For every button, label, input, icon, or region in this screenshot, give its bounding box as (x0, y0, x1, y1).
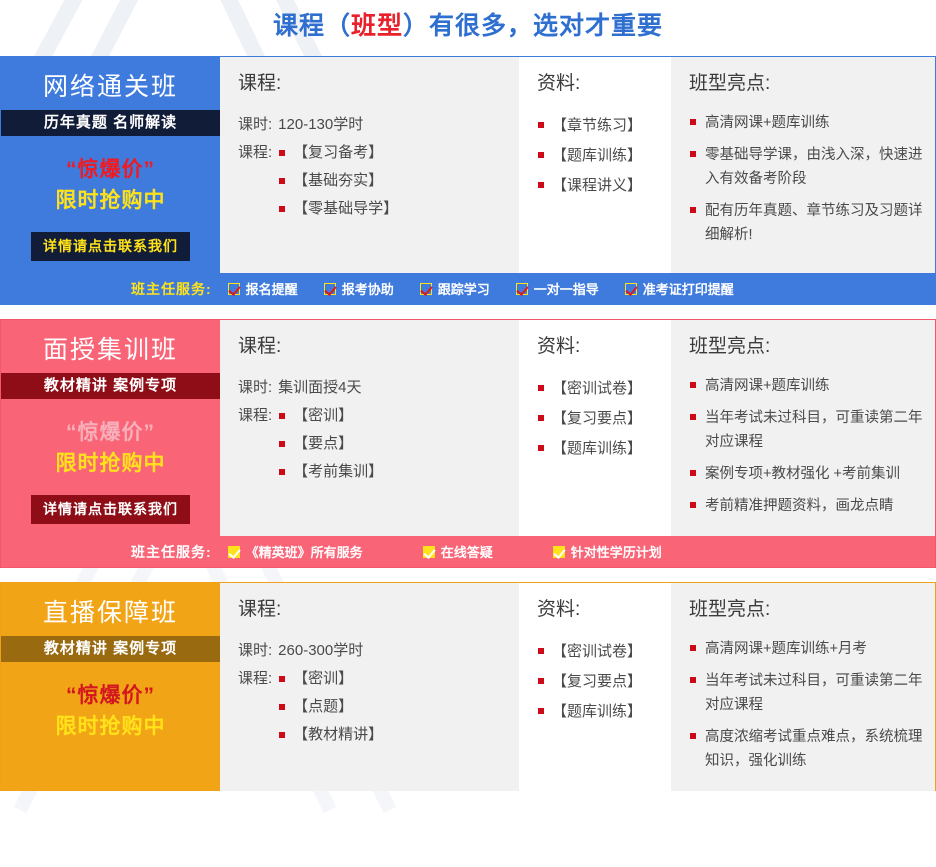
page-title-accent: 班型 (351, 12, 403, 40)
list-item: 配有历年真题、章节练习及习题详细解析! (689, 199, 935, 247)
service-bar: 班主任服务: 报名提醒 报考协助 跟踪学习 一对一指导 准考证打印提醒 (1, 273, 935, 304)
course-list-key: 课程: (238, 402, 272, 486)
service-bar-label: 班主任服务: (131, 542, 212, 562)
course-list-row: 课程: 【复习备考】 【基础夯实】 【零基础导学】 (238, 139, 519, 223)
promo-price-label: “惊爆价” (1, 417, 220, 449)
checkbox-checked-icon (228, 283, 240, 295)
course-list-key: 课程: (238, 139, 272, 223)
card-body: 面授集训班 教材精讲 案例专项 “惊爆价” 限时抢购中 详情请点击联系我们 课程… (1, 320, 935, 536)
promo-title: 网络通关班 (1, 67, 220, 110)
list-item: 案例专项+教材强化 +考前集训 (689, 462, 935, 486)
list-item: 【要点】 (278, 430, 519, 458)
list-item: 【题库训练】 (537, 434, 671, 464)
promo-panel[interactable]: 直播保障班 教材精讲 案例专项 “惊爆价” 限时抢购中 (1, 583, 220, 791)
list-item: 【复习要点】 (537, 404, 671, 434)
service-item-label: 报考协助 (342, 279, 394, 298)
list-item: 【考前集训】 (278, 458, 519, 486)
courses-heading: 课程: (238, 71, 519, 97)
service-item[interactable]: 报名提醒 (228, 279, 298, 298)
list-item: 【零基础导学】 (278, 195, 519, 223)
list-item: 【密训】 (278, 665, 519, 693)
course-hours-value: 集训面授4天 (278, 374, 519, 402)
list-item: 【基础夯实】 (278, 167, 519, 195)
highlights-column: 班型亮点: 高清网课+题库训练 零基础导学课，由浅入深，快速进入有效备考阶段 配… (671, 57, 935, 273)
highlights-column: 班型亮点: 高清网课+题库训练+月考 当年考试未过科目，可重读第二年对应课程 高… (671, 583, 935, 791)
courses-column: 课程: 课时: 260-300学时 课程: 【密训】 【点题】 【教材精讲】 (220, 583, 519, 791)
promo-price-label: “惊爆价” (1, 154, 220, 186)
materials-list: 【章节练习】 【题库训练】 【课程讲义】 (537, 111, 671, 201)
card-body: 网络通关班 历年真题 名师解读 “惊爆价” 限时抢购中 详情请点击联系我们 课程… (1, 57, 935, 273)
promo-panel[interactable]: 网络通关班 历年真题 名师解读 “惊爆价” 限时抢购中 详情请点击联系我们 (1, 57, 220, 273)
page-title: 课程（班型）有很多，选对才重要 (0, 0, 936, 56)
list-item: 【密训试卷】 (537, 637, 671, 667)
highlights-list: 高清网课+题库训练+月考 当年考试未过科目，可重读第二年对应课程 高度浓缩考试重… (689, 637, 935, 773)
course-list-row: 课程: 【密训】 【点题】 【教材精讲】 (238, 665, 519, 749)
course-hours-key: 课时: (238, 374, 272, 402)
promo-price-label: “惊爆价” (1, 680, 220, 712)
courses-heading: 课程: (238, 334, 519, 360)
checkbox-checked-icon (423, 546, 435, 558)
service-bar-label: 班主任服务: (131, 279, 212, 299)
course-hours-key: 课时: (238, 111, 272, 139)
promo-subtitle: 教材精讲 案例专项 (1, 373, 220, 399)
promo-subtitle: 教材精讲 案例专项 (1, 636, 220, 662)
materials-column: 资料: 【密训试卷】 【复习要点】 【题库训练】 (519, 583, 671, 791)
highlights-list: 高清网课+题库训练 零基础导学课，由浅入深，快速进入有效备考阶段 配有历年真题、… (689, 111, 935, 247)
card-body: 直播保障班 教材精讲 案例专项 “惊爆价” 限时抢购中 课程: 课时: 260-… (1, 583, 935, 791)
course-list: 【复习备考】 【基础夯实】 【零基础导学】 (278, 139, 519, 223)
promo-title: 直播保障班 (1, 593, 220, 636)
materials-list: 【密训试卷】 【复习要点】 【题库训练】 (537, 637, 671, 727)
service-item-label: 一对一指导 (534, 279, 599, 298)
page-title-part1: 课程（ (273, 12, 351, 40)
checkbox-checked-icon (516, 283, 528, 295)
list-item: 【复习要点】 (537, 667, 671, 697)
checkbox-checked-icon (625, 283, 637, 295)
page-root: 课程（班型）有很多，选对才重要 网络通关班 历年真题 名师解读 “惊爆价” 限时… (0, 0, 936, 867)
promo-rush-label: 限时抢购中 (1, 186, 220, 216)
course-hours-row: 课时: 120-130学时 (238, 111, 519, 139)
highlights-heading: 班型亮点: (689, 597, 935, 623)
checkbox-checked-icon (420, 283, 432, 295)
course-list: 【密训】 【点题】 【教材精讲】 (278, 665, 519, 749)
courses-heading: 课程: (238, 597, 519, 623)
materials-column: 资料: 【章节练习】 【题库训练】 【课程讲义】 (519, 57, 671, 273)
service-item[interactable]: 针对性学历计划 (553, 542, 662, 561)
service-item[interactable]: 《精英班》所有服务 (228, 542, 363, 561)
courses-column: 课程: 课时: 120-130学时 课程: 【复习备考】 【基础夯实】 【零基础… (220, 57, 519, 273)
materials-heading: 资料: (537, 597, 671, 623)
service-item[interactable]: 一对一指导 (516, 279, 599, 298)
course-list-key: 课程: (238, 665, 272, 749)
service-item-label: 针对性学历计划 (571, 542, 662, 561)
list-item: 【章节练习】 (537, 111, 671, 141)
course-hours-value: 120-130学时 (278, 111, 519, 139)
list-item: 【点题】 (278, 693, 519, 721)
checkbox-checked-icon (553, 546, 565, 558)
course-hours-key: 课时: (238, 637, 272, 665)
checkbox-checked-icon (228, 546, 240, 558)
materials-list: 【密训试卷】 【复习要点】 【题库训练】 (537, 374, 671, 464)
promo-rush-label: 限时抢购中 (1, 712, 220, 742)
promo-title: 面授集训班 (1, 330, 220, 373)
service-item[interactable]: 跟踪学习 (420, 279, 490, 298)
highlights-list: 高清网课+题库训练 当年考试未过科目，可重读第二年对应课程 案例专项+教材强化 … (689, 374, 935, 518)
list-item: 高度浓缩考试重点难点，系统梳理知识，强化训练 (689, 725, 935, 773)
service-item[interactable]: 报考协助 (324, 279, 394, 298)
list-item: 【课程讲义】 (537, 171, 671, 201)
courses-column: 课程: 课时: 集训面授4天 课程: 【密训】 【要点】 【考前集训】 (220, 320, 519, 536)
list-item: 高清网课+题库训练 (689, 374, 935, 398)
checkbox-checked-icon (324, 283, 336, 295)
list-item: 【题库训练】 (537, 697, 671, 727)
highlights-column: 班型亮点: 高清网课+题库训练 当年考试未过科目，可重读第二年对应课程 案例专项… (671, 320, 935, 536)
list-item: 当年考试未过科目，可重读第二年对应课程 (689, 406, 935, 454)
service-item-label: 《精英班》所有服务 (246, 542, 363, 561)
list-item: 【密训试卷】 (537, 374, 671, 404)
service-item[interactable]: 准考证打印提醒 (625, 279, 734, 298)
list-item: 高清网课+题库训练+月考 (689, 637, 935, 661)
materials-heading: 资料: (537, 71, 671, 97)
list-item: 当年考试未过科目，可重读第二年对应课程 (689, 669, 935, 717)
list-item: 【复习备考】 (278, 139, 519, 167)
promo-subtitle: 历年真题 名师解读 (1, 110, 220, 136)
list-item: 【教材精讲】 (278, 721, 519, 749)
course-hours-row: 课时: 260-300学时 (238, 637, 519, 665)
service-item-label: 跟踪学习 (438, 279, 490, 298)
course-list: 【密训】 【要点】 【考前集训】 (278, 402, 519, 486)
highlights-heading: 班型亮点: (689, 334, 935, 360)
page-title-part2: ）有很多，选对才重要 (403, 12, 663, 40)
promo-panel[interactable]: 面授集训班 教材精讲 案例专项 “惊爆价” 限时抢购中 详情请点击联系我们 (1, 320, 220, 536)
highlights-heading: 班型亮点: (689, 71, 935, 97)
course-card-live-guarantee[interactable]: 直播保障班 教材精讲 案例专项 “惊爆价” 限时抢购中 课程: 课时: 260-… (0, 582, 936, 791)
course-card-face-to-face[interactable]: 面授集训班 教材精讲 案例专项 “惊爆价” 限时抢购中 详情请点击联系我们 课程… (0, 319, 936, 568)
contact-us-button[interactable]: 详情请点击联系我们 (31, 232, 190, 261)
list-item: 高清网课+题库训练 (689, 111, 935, 135)
list-item: 【题库训练】 (537, 141, 671, 171)
service-item[interactable]: 在线答疑 (423, 542, 493, 561)
list-item: 零基础导学课，由浅入深，快速进入有效备考阶段 (689, 143, 935, 191)
service-item-label: 在线答疑 (441, 542, 493, 561)
promo-rush-label: 限时抢购中 (1, 449, 220, 479)
list-item: 考前精准押题资料，画龙点睛 (689, 494, 935, 518)
service-bar: 班主任服务: 《精英班》所有服务 在线答疑 针对性学历计划 (1, 536, 935, 567)
list-item: 【密训】 (278, 402, 519, 430)
course-list-row: 课程: 【密训】 【要点】 【考前集训】 (238, 402, 519, 486)
service-item-label: 报名提醒 (246, 279, 298, 298)
course-card-network-pass[interactable]: 网络通关班 历年真题 名师解读 “惊爆价” 限时抢购中 详情请点击联系我们 课程… (0, 56, 936, 305)
course-hours-value: 260-300学时 (278, 637, 519, 665)
service-item-label: 准考证打印提醒 (643, 279, 734, 298)
materials-heading: 资料: (537, 334, 671, 360)
materials-column: 资料: 【密训试卷】 【复习要点】 【题库训练】 (519, 320, 671, 536)
course-hours-row: 课时: 集训面授4天 (238, 374, 519, 402)
contact-us-button[interactable]: 详情请点击联系我们 (31, 495, 190, 524)
